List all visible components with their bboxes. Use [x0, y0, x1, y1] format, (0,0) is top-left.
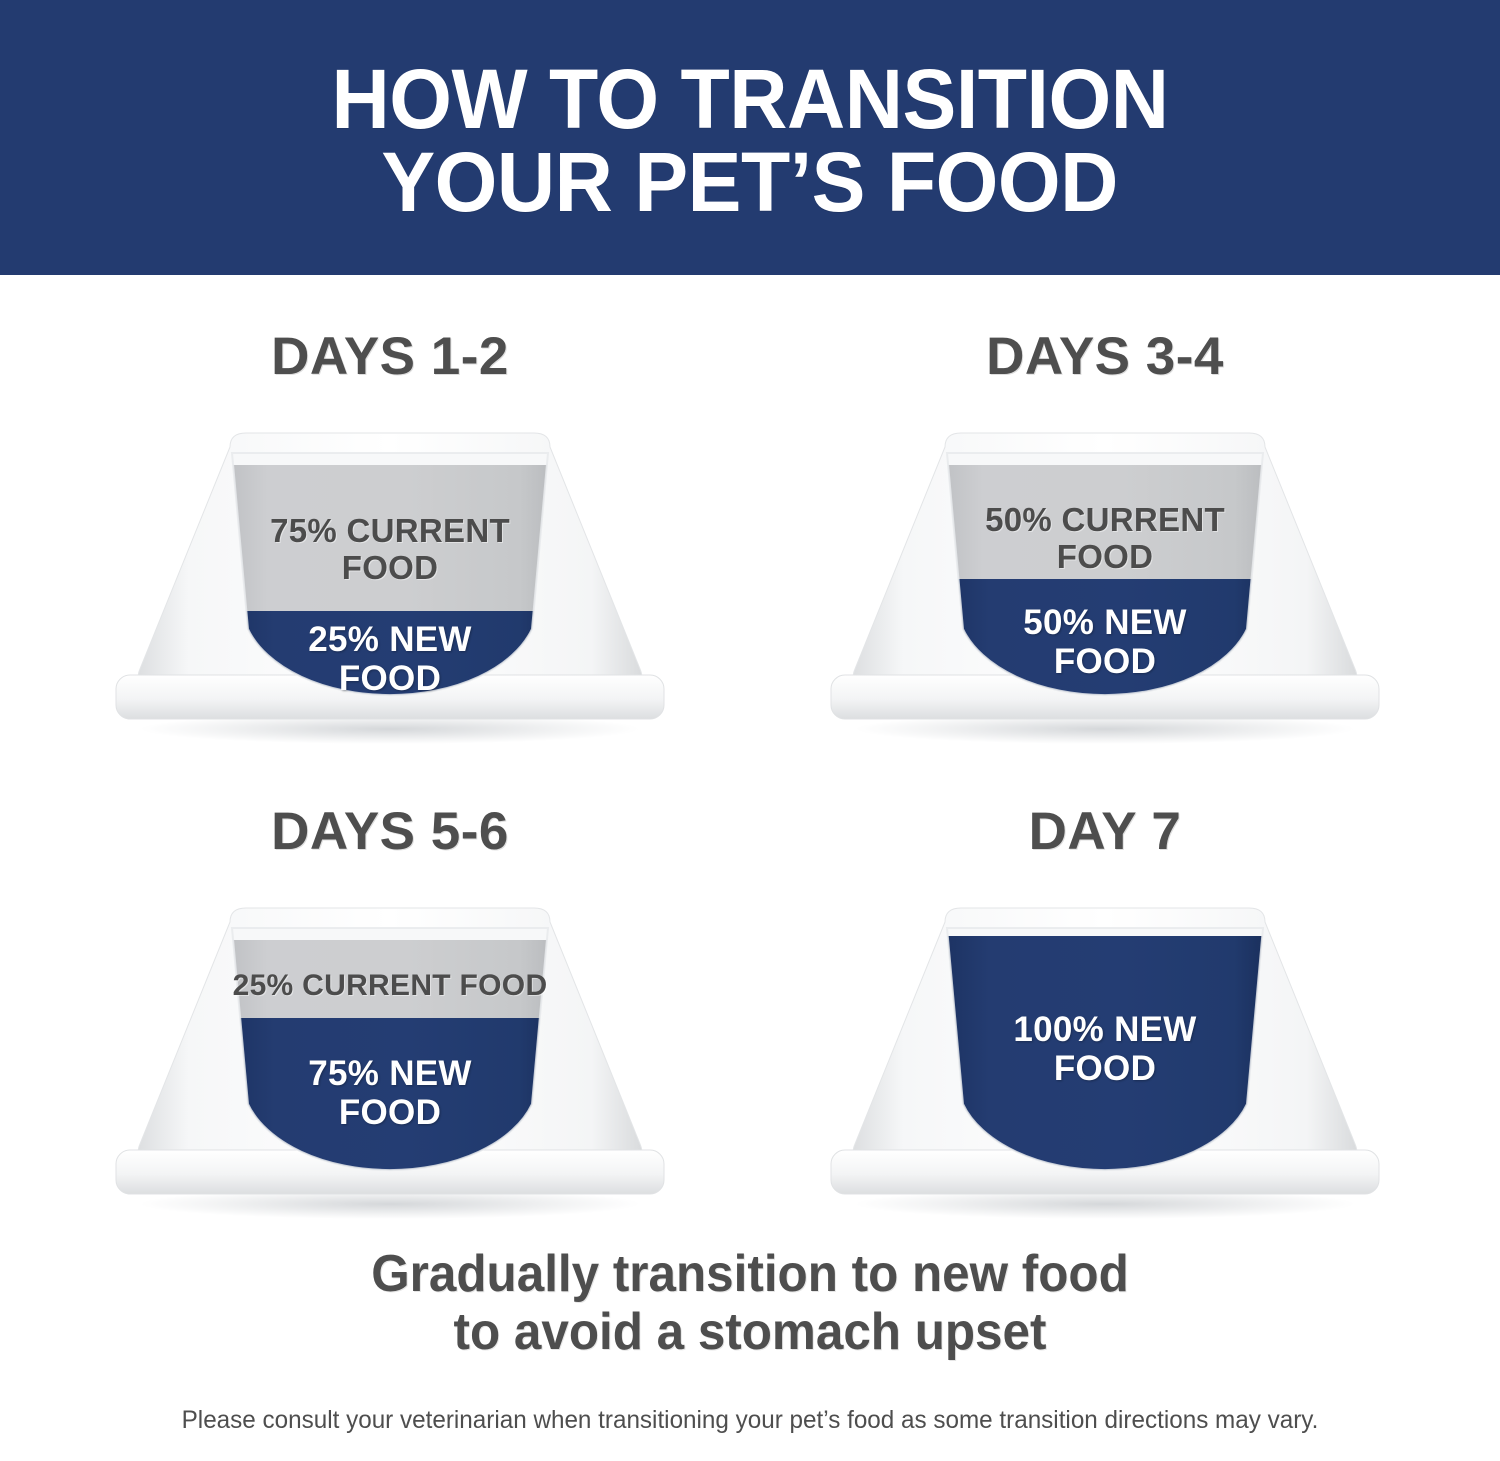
bowl-graphic-icon [80, 892, 700, 1222]
bowl-card-day-7: DAY 7 [750, 805, 1460, 1275]
day-label: DAYS 5-6 [35, 805, 745, 865]
bowl-graphic-icon [795, 892, 1415, 1222]
bowl-illustration: 100% NEW FOOD [795, 892, 1415, 1222]
bowl-illustration: 50% CURRENT FOOD 50% NEW FOOD [795, 417, 1415, 747]
header-banner: HOW TO TRANSITION YOUR PET’S FOOD [0, 0, 1500, 275]
page-title-line-2: YOUR PET’S FOOD [382, 141, 1119, 223]
day-label: DAYS 1-2 [35, 330, 745, 390]
bowl-graphic-icon [80, 417, 700, 747]
disclaimer-text: Please consult your veterinarian when tr… [23, 1405, 1478, 1435]
transition-schedule-grid: DAYS 1-2 [0, 275, 1500, 1240]
tagline-line-1: Gradually transition to new food [38, 1245, 1463, 1303]
bowl-card-days-3-4: DAYS 3-4 [750, 330, 1460, 800]
bowl-illustration: 75% CURRENT FOOD 25% NEW FOOD [80, 417, 700, 747]
bowl-illustration: 25% CURRENT FOOD 75% NEW FOOD [80, 892, 700, 1222]
bowl-card-days-1-2: DAYS 1-2 [35, 330, 745, 800]
page-title-line-1: HOW TO TRANSITION [331, 58, 1168, 140]
day-label: DAYS 3-4 [750, 330, 1460, 390]
bowl-graphic-icon [795, 417, 1415, 747]
footer: Gradually transition to new food to avoi… [0, 1245, 1500, 1435]
bowl-card-days-5-6: DAYS 5-6 [35, 805, 745, 1275]
tagline-line-2: to avoid a stomach upset [38, 1303, 1463, 1361]
day-label: DAY 7 [750, 805, 1460, 865]
